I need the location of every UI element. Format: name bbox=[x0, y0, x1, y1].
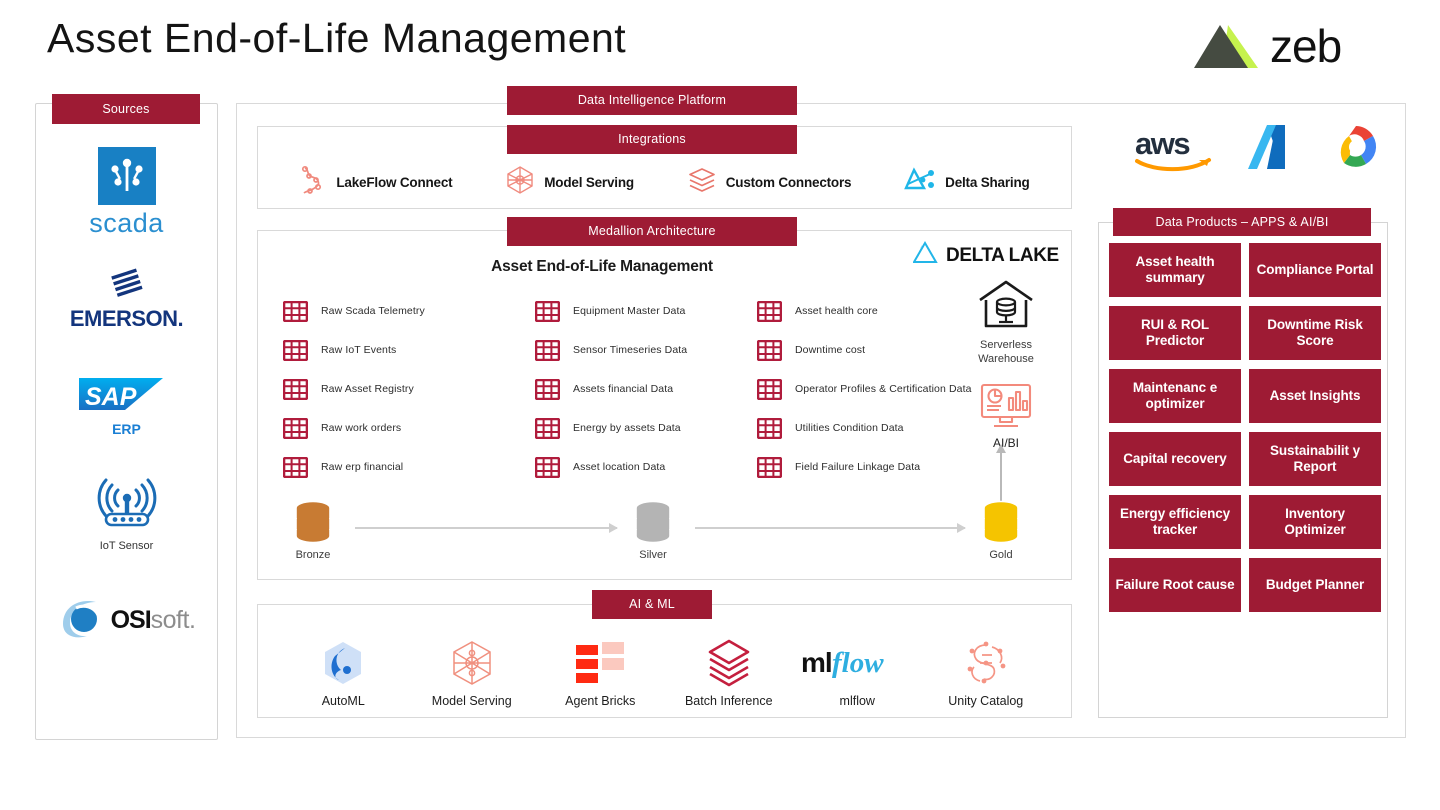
table-label: Equipment Master Data bbox=[573, 305, 685, 318]
medallion-lane: Bronze Silver bbox=[283, 500, 1043, 572]
model-serving-icon bbox=[449, 638, 495, 688]
aiml-label: Unity Catalog bbox=[948, 694, 1023, 708]
table-row[interactable]: Assets financial Data bbox=[535, 370, 765, 409]
warehouse-label: Serverless Warehouse bbox=[960, 339, 1052, 367]
table-row[interactable]: Operator Profiles & Certification Data bbox=[757, 370, 972, 409]
aiml-label: Agent Bricks bbox=[565, 694, 635, 708]
delta-lake-logo: DELTA LAKE bbox=[913, 241, 1059, 270]
agent-bricks-icon bbox=[574, 638, 626, 688]
iot-sensor-icon bbox=[96, 476, 158, 537]
data-product-tile[interactable]: Energy efficiency tracker bbox=[1109, 495, 1241, 549]
integration-label: Delta Sharing bbox=[945, 175, 1029, 190]
data-products-grid: Asset health summary Compliance Portal R… bbox=[1105, 243, 1385, 612]
integration-lakeflow-connect[interactable]: LakeFlow Connect bbox=[299, 165, 452, 200]
google-cloud-logo bbox=[1327, 122, 1385, 177]
table-row[interactable]: Equipment Master Data bbox=[535, 292, 765, 331]
table-row[interactable]: Raw Asset Registry bbox=[283, 370, 513, 409]
table-label: Asset location Data bbox=[573, 461, 665, 474]
svg-text:aws: aws bbox=[1135, 127, 1189, 161]
table-row[interactable]: Energy by assets Data bbox=[535, 409, 765, 448]
table-label: Raw Asset Registry bbox=[321, 383, 414, 396]
model-serving-icon bbox=[505, 165, 535, 200]
gold-to-aibi-arrow bbox=[1000, 452, 1002, 502]
data-products-header: Data Products – APPS & AI/BI bbox=[1113, 208, 1371, 236]
table-icon bbox=[535, 418, 560, 439]
aiml-label: mlflow bbox=[840, 694, 875, 708]
page-title: Asset End-of-Life Management bbox=[47, 15, 626, 62]
data-product-tile[interactable]: Downtime Risk Score bbox=[1249, 306, 1381, 360]
table-row[interactable]: Raw Scada Telemetry bbox=[283, 292, 513, 331]
zeb-wordmark: zeb bbox=[1270, 23, 1341, 69]
table-row[interactable]: Raw IoT Events bbox=[283, 331, 513, 370]
table-label: Raw Scada Telemetry bbox=[321, 305, 425, 318]
table-label: Operator Profiles & Certification Data bbox=[795, 383, 972, 396]
zeb-triangle-icon bbox=[1192, 21, 1262, 71]
table-label: Raw IoT Events bbox=[321, 344, 396, 357]
osisoft-sublabel: soft. bbox=[151, 606, 196, 634]
lakeflow-icon bbox=[299, 165, 327, 200]
source-item-scada[interactable]: scada bbox=[35, 140, 218, 245]
data-product-tile[interactable]: Capital recovery bbox=[1109, 432, 1241, 486]
svg-text:flow: flow bbox=[832, 647, 884, 679]
svg-text:SAP: SAP bbox=[85, 383, 137, 411]
table-icon bbox=[283, 418, 308, 439]
source-item-osisoft[interactable]: OSIsoft. bbox=[35, 568, 218, 673]
emerson-label: EMERSON. bbox=[70, 306, 183, 332]
lane-label: Silver bbox=[639, 549, 667, 561]
data-product-tile[interactable]: Compliance Portal bbox=[1249, 243, 1381, 297]
table-icon bbox=[757, 340, 782, 361]
table-label: Asset health core bbox=[795, 305, 878, 318]
table-icon bbox=[757, 418, 782, 439]
aiml-item-model-serving[interactable]: Model Serving bbox=[413, 638, 531, 708]
table-row[interactable]: Utilities Condition Data bbox=[757, 409, 972, 448]
silver-to-gold-arrow bbox=[695, 527, 965, 529]
table-icon bbox=[283, 340, 308, 361]
emerson-logo-icon bbox=[105, 268, 149, 303]
integration-model-serving[interactable]: Model Serving bbox=[505, 165, 634, 200]
table-icon bbox=[535, 301, 560, 322]
table-row[interactable]: Raw work orders bbox=[283, 409, 513, 448]
aws-logo: aws bbox=[1135, 127, 1221, 171]
data-product-tile[interactable]: Budget Planner bbox=[1249, 558, 1381, 612]
aiml-label: Batch Inference bbox=[685, 694, 773, 708]
data-intelligence-platform-header: Data Intelligence Platform bbox=[507, 86, 797, 115]
unity-catalog-icon bbox=[962, 638, 1010, 688]
table-label: Field Failure Linkage Data bbox=[795, 461, 920, 474]
integration-label: Custom Connectors bbox=[726, 175, 852, 190]
aiml-label: AutoML bbox=[322, 694, 365, 708]
delta-lake-label: DELTA LAKE bbox=[946, 245, 1059, 267]
medallion-column-gold: Asset health core Downtime cost Operator… bbox=[757, 292, 972, 487]
medallion-column-bronze: Raw Scada Telemetry Raw IoT Events Raw A… bbox=[283, 292, 513, 487]
source-item-sap[interactable]: SAP ERP bbox=[35, 354, 218, 459]
table-icon bbox=[535, 340, 560, 361]
aiml-item-automl[interactable]: AutoML bbox=[284, 638, 402, 708]
table-icon bbox=[283, 457, 308, 478]
ai-bi-block: AI/BI bbox=[960, 382, 1052, 450]
lane-label: Gold bbox=[989, 549, 1012, 561]
table-label: Raw work orders bbox=[321, 422, 401, 435]
sap-erp-label: ERP bbox=[112, 421, 141, 437]
data-product-tile[interactable]: Maintenanc e optimizer bbox=[1109, 369, 1241, 423]
table-icon bbox=[535, 379, 560, 400]
iot-sensor-label: IoT Sensor bbox=[100, 540, 154, 552]
aiml-item-unity-catalog[interactable]: Unity Catalog bbox=[927, 638, 1045, 708]
scada-label: scada bbox=[89, 208, 164, 239]
data-product-tile[interactable]: Inventory Optimizer bbox=[1249, 495, 1381, 549]
table-row[interactable]: Sensor Timeseries Data bbox=[535, 331, 765, 370]
integration-delta-sharing[interactable]: Delta Sharing bbox=[904, 166, 1029, 199]
source-item-emerson[interactable]: EMERSON. bbox=[35, 247, 218, 352]
table-label: Utilities Condition Data bbox=[795, 422, 904, 435]
osisoft-label: OSI bbox=[111, 606, 151, 634]
table-label: Assets financial Data bbox=[573, 383, 673, 396]
zeb-logo: zeb bbox=[1192, 18, 1392, 74]
table-icon bbox=[757, 379, 782, 400]
sources-header: Sources bbox=[52, 94, 200, 124]
sources-list: scada EMERSON. bbox=[35, 130, 218, 730]
warehouse-icon bbox=[976, 278, 1036, 337]
delta-sharing-icon bbox=[904, 166, 936, 199]
data-product-tile[interactable]: Failure Root cause bbox=[1109, 558, 1241, 612]
table-row[interactable]: Field Failure Linkage Data bbox=[757, 448, 972, 487]
ai-ml-list: AutoML Model Serving bbox=[257, 620, 1072, 716]
aiml-label: Model Serving bbox=[432, 694, 512, 708]
table-label: Downtime cost bbox=[795, 344, 865, 357]
aiml-item-batch-inference[interactable]: Batch Inference bbox=[670, 638, 788, 708]
table-row[interactable]: Asset health core bbox=[757, 292, 972, 331]
lane-label: Bronze bbox=[296, 549, 331, 561]
sap-logo-icon: SAP bbox=[79, 376, 175, 418]
ai-ml-header: AI & ML bbox=[592, 590, 712, 619]
source-item-iot[interactable]: IoT Sensor bbox=[35, 461, 218, 566]
integration-label: Model Serving bbox=[544, 175, 634, 190]
table-label: Sensor Timeseries Data bbox=[573, 344, 687, 357]
table-icon bbox=[757, 301, 782, 322]
integration-label: LakeFlow Connect bbox=[336, 175, 452, 190]
integrations-list: LakeFlow Connect Model Serving bbox=[257, 155, 1072, 209]
table-label: Raw erp financial bbox=[321, 461, 403, 474]
medallion-column-silver: Equipment Master Data Sensor Timeseries … bbox=[535, 292, 765, 487]
serverless-warehouse: Serverless Warehouse bbox=[960, 278, 1052, 367]
aiml-item-mlflow[interactable]: ml flow mlflow bbox=[798, 638, 916, 708]
cloud-providers: aws bbox=[1125, 118, 1395, 180]
table-icon bbox=[283, 379, 308, 400]
medallion-header: Medallion Architecture bbox=[507, 217, 797, 246]
data-product-tile[interactable]: Asset health summary bbox=[1109, 243, 1241, 297]
lane-node-gold: Gold bbox=[979, 500, 1023, 561]
delta-lake-icon bbox=[913, 241, 939, 270]
azure-logo bbox=[1245, 122, 1303, 177]
medallion-subtitle: Asset End-of-Life Management bbox=[257, 258, 947, 276]
bronze-to-silver-arrow bbox=[355, 527, 617, 529]
scada-logo-icon bbox=[98, 147, 156, 205]
table-label: Energy by assets Data bbox=[573, 422, 681, 435]
svg-text:ml: ml bbox=[801, 647, 832, 678]
table-icon bbox=[757, 457, 782, 478]
diagram-canvas: Asset End-of-Life Management zeb Sources bbox=[0, 0, 1440, 810]
data-product-tile[interactable]: RUI & ROL Predictor bbox=[1109, 306, 1241, 360]
custom-connectors-icon bbox=[687, 165, 717, 200]
integration-custom-connectors[interactable]: Custom Connectors bbox=[687, 165, 852, 200]
table-row[interactable]: Asset location Data bbox=[535, 448, 765, 487]
integrations-header: Integrations bbox=[507, 125, 797, 154]
table-row[interactable]: Downtime cost bbox=[757, 331, 972, 370]
ai-bi-dashboard-icon bbox=[978, 382, 1034, 435]
osisoft-logo-icon bbox=[58, 596, 104, 645]
data-product-tile[interactable]: Asset Insights bbox=[1249, 369, 1381, 423]
table-icon bbox=[535, 457, 560, 478]
table-icon bbox=[283, 301, 308, 322]
aiml-item-agent-bricks[interactable]: Agent Bricks bbox=[541, 638, 659, 708]
batch-inference-icon bbox=[705, 638, 753, 688]
table-row[interactable]: Raw erp financial bbox=[283, 448, 513, 487]
data-product-tile[interactable]: Sustainabilit y Report bbox=[1249, 432, 1381, 486]
lane-node-bronze: Bronze bbox=[291, 500, 335, 561]
automl-icon bbox=[321, 638, 365, 688]
mlflow-logo: ml flow bbox=[801, 638, 913, 688]
lane-node-silver: Silver bbox=[631, 500, 675, 561]
